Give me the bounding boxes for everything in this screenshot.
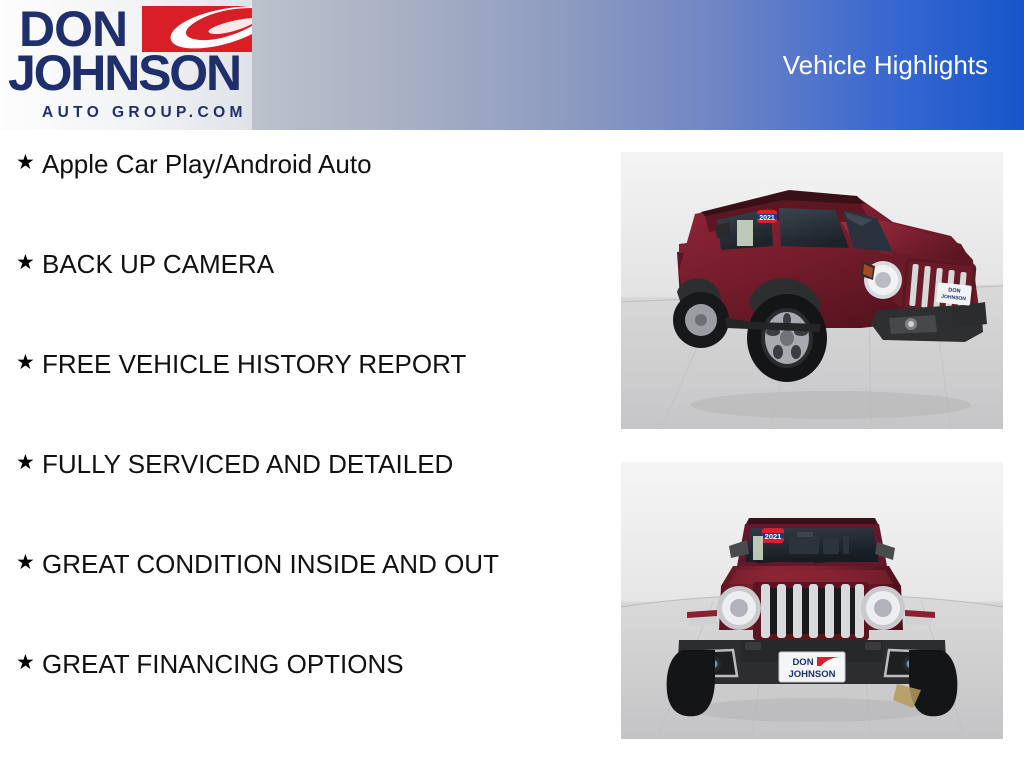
logo-tagline: AUTO GROUP.COM [42,105,247,121]
dealer-plate: DON JOHNSON [779,652,845,682]
highlight-label: Apple Car Play/Android Auto [42,148,570,181]
star-bullet-icon: ★ [10,248,42,278]
windshield-year-sticker: 2021 [757,210,777,223]
dealer-plate: DON JOHNSON [936,282,972,305]
page-header: DON JOHNSON AUTO GROUP.COM Vehicle Highl… [0,0,1024,130]
vehicle-photo-front[interactable]: 2021 [621,462,1003,739]
vehicle-highlights-list: ★ Apple Car Play/Android Auto ★ BACK UP … [10,148,570,748]
star-bullet-icon: ★ [10,148,42,178]
highlight-label: FULLY SERVICED AND DETAILED [42,448,570,481]
list-item: ★ GREAT FINANCING OPTIONS [10,648,570,748]
svg-text:2021: 2021 [765,532,782,541]
star-bullet-icon: ★ [10,448,42,478]
dealer-logo[interactable]: DON JOHNSON AUTO GROUP.COM [0,0,258,130]
list-item: ★ BACK UP CAMERA [10,248,570,348]
list-item: ★ FREE VEHICLE HISTORY REPORT [10,348,570,448]
highlight-label: FREE VEHICLE HISTORY REPORT [42,348,570,381]
svg-text:DON: DON [792,657,813,668]
highlight-label: GREAT CONDITION INSIDE AND OUT [42,548,570,581]
vehicle-photo-front-three-quarter[interactable]: 2021 [621,152,1003,429]
highlight-label: BACK UP CAMERA [42,248,570,281]
list-item: ★ Apple Car Play/Android Auto [10,148,570,248]
page-content: ★ Apple Car Play/Android Auto ★ BACK UP … [0,130,1024,768]
svg-text:2021: 2021 [759,215,775,222]
page-title: Vehicle Highlights [783,50,988,81]
star-bullet-icon: ★ [10,648,42,678]
logo-text-johnson: JOHNSON [8,48,240,98]
svg-text:JOHNSON: JOHNSON [789,669,836,680]
svg-text:DON: DON [948,287,961,294]
star-bullet-icon: ★ [10,548,42,578]
windshield-year-sticker: 2021 [762,528,784,543]
star-bullet-icon: ★ [10,348,42,378]
list-item: ★ FULLY SERVICED AND DETAILED [10,448,570,548]
list-item: ★ GREAT CONDITION INSIDE AND OUT [10,548,570,648]
highlight-label: GREAT FINANCING OPTIONS [42,648,570,681]
